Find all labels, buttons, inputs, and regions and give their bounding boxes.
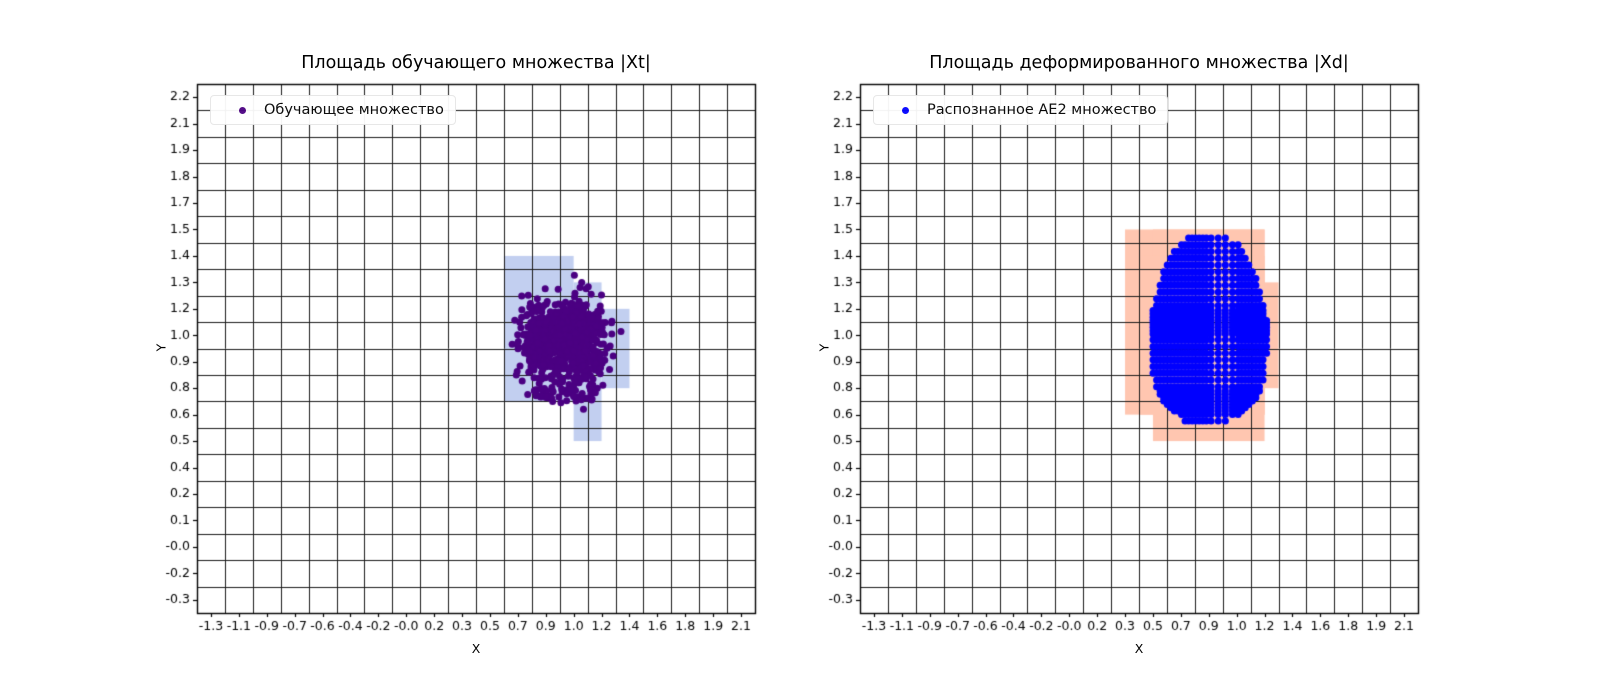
panel-deformed-set: Площадь деформированного множества |Xd| … — [800, 0, 1600, 700]
legend-marker-circle-icon — [239, 107, 246, 114]
y-axis-label-left: Y — [154, 337, 169, 357]
legend-training-set[interactable]: Обучающее множество — [210, 95, 456, 125]
x-axis-label-right: X — [860, 641, 1418, 656]
legend-marker-slot — [220, 107, 264, 114]
legend-label-deformed-set: Распознанное AE2 множество — [927, 102, 1156, 118]
y-axis-label-right: Y — [817, 337, 832, 357]
legend-label-training-set: Обучающее множество — [264, 102, 444, 118]
panel-training-set: Площадь обучающего множества |Xt| Обучаю… — [0, 0, 800, 700]
legend-marker-slot — [883, 107, 927, 114]
x-axis-label-left: X — [197, 641, 755, 656]
legend-marker-circle-icon — [902, 107, 909, 114]
legend-deformed-set[interactable]: Распознанное AE2 множество — [873, 95, 1168, 125]
figure-canvas: Площадь обучающего множества |Xt| Обучаю… — [0, 0, 1600, 700]
